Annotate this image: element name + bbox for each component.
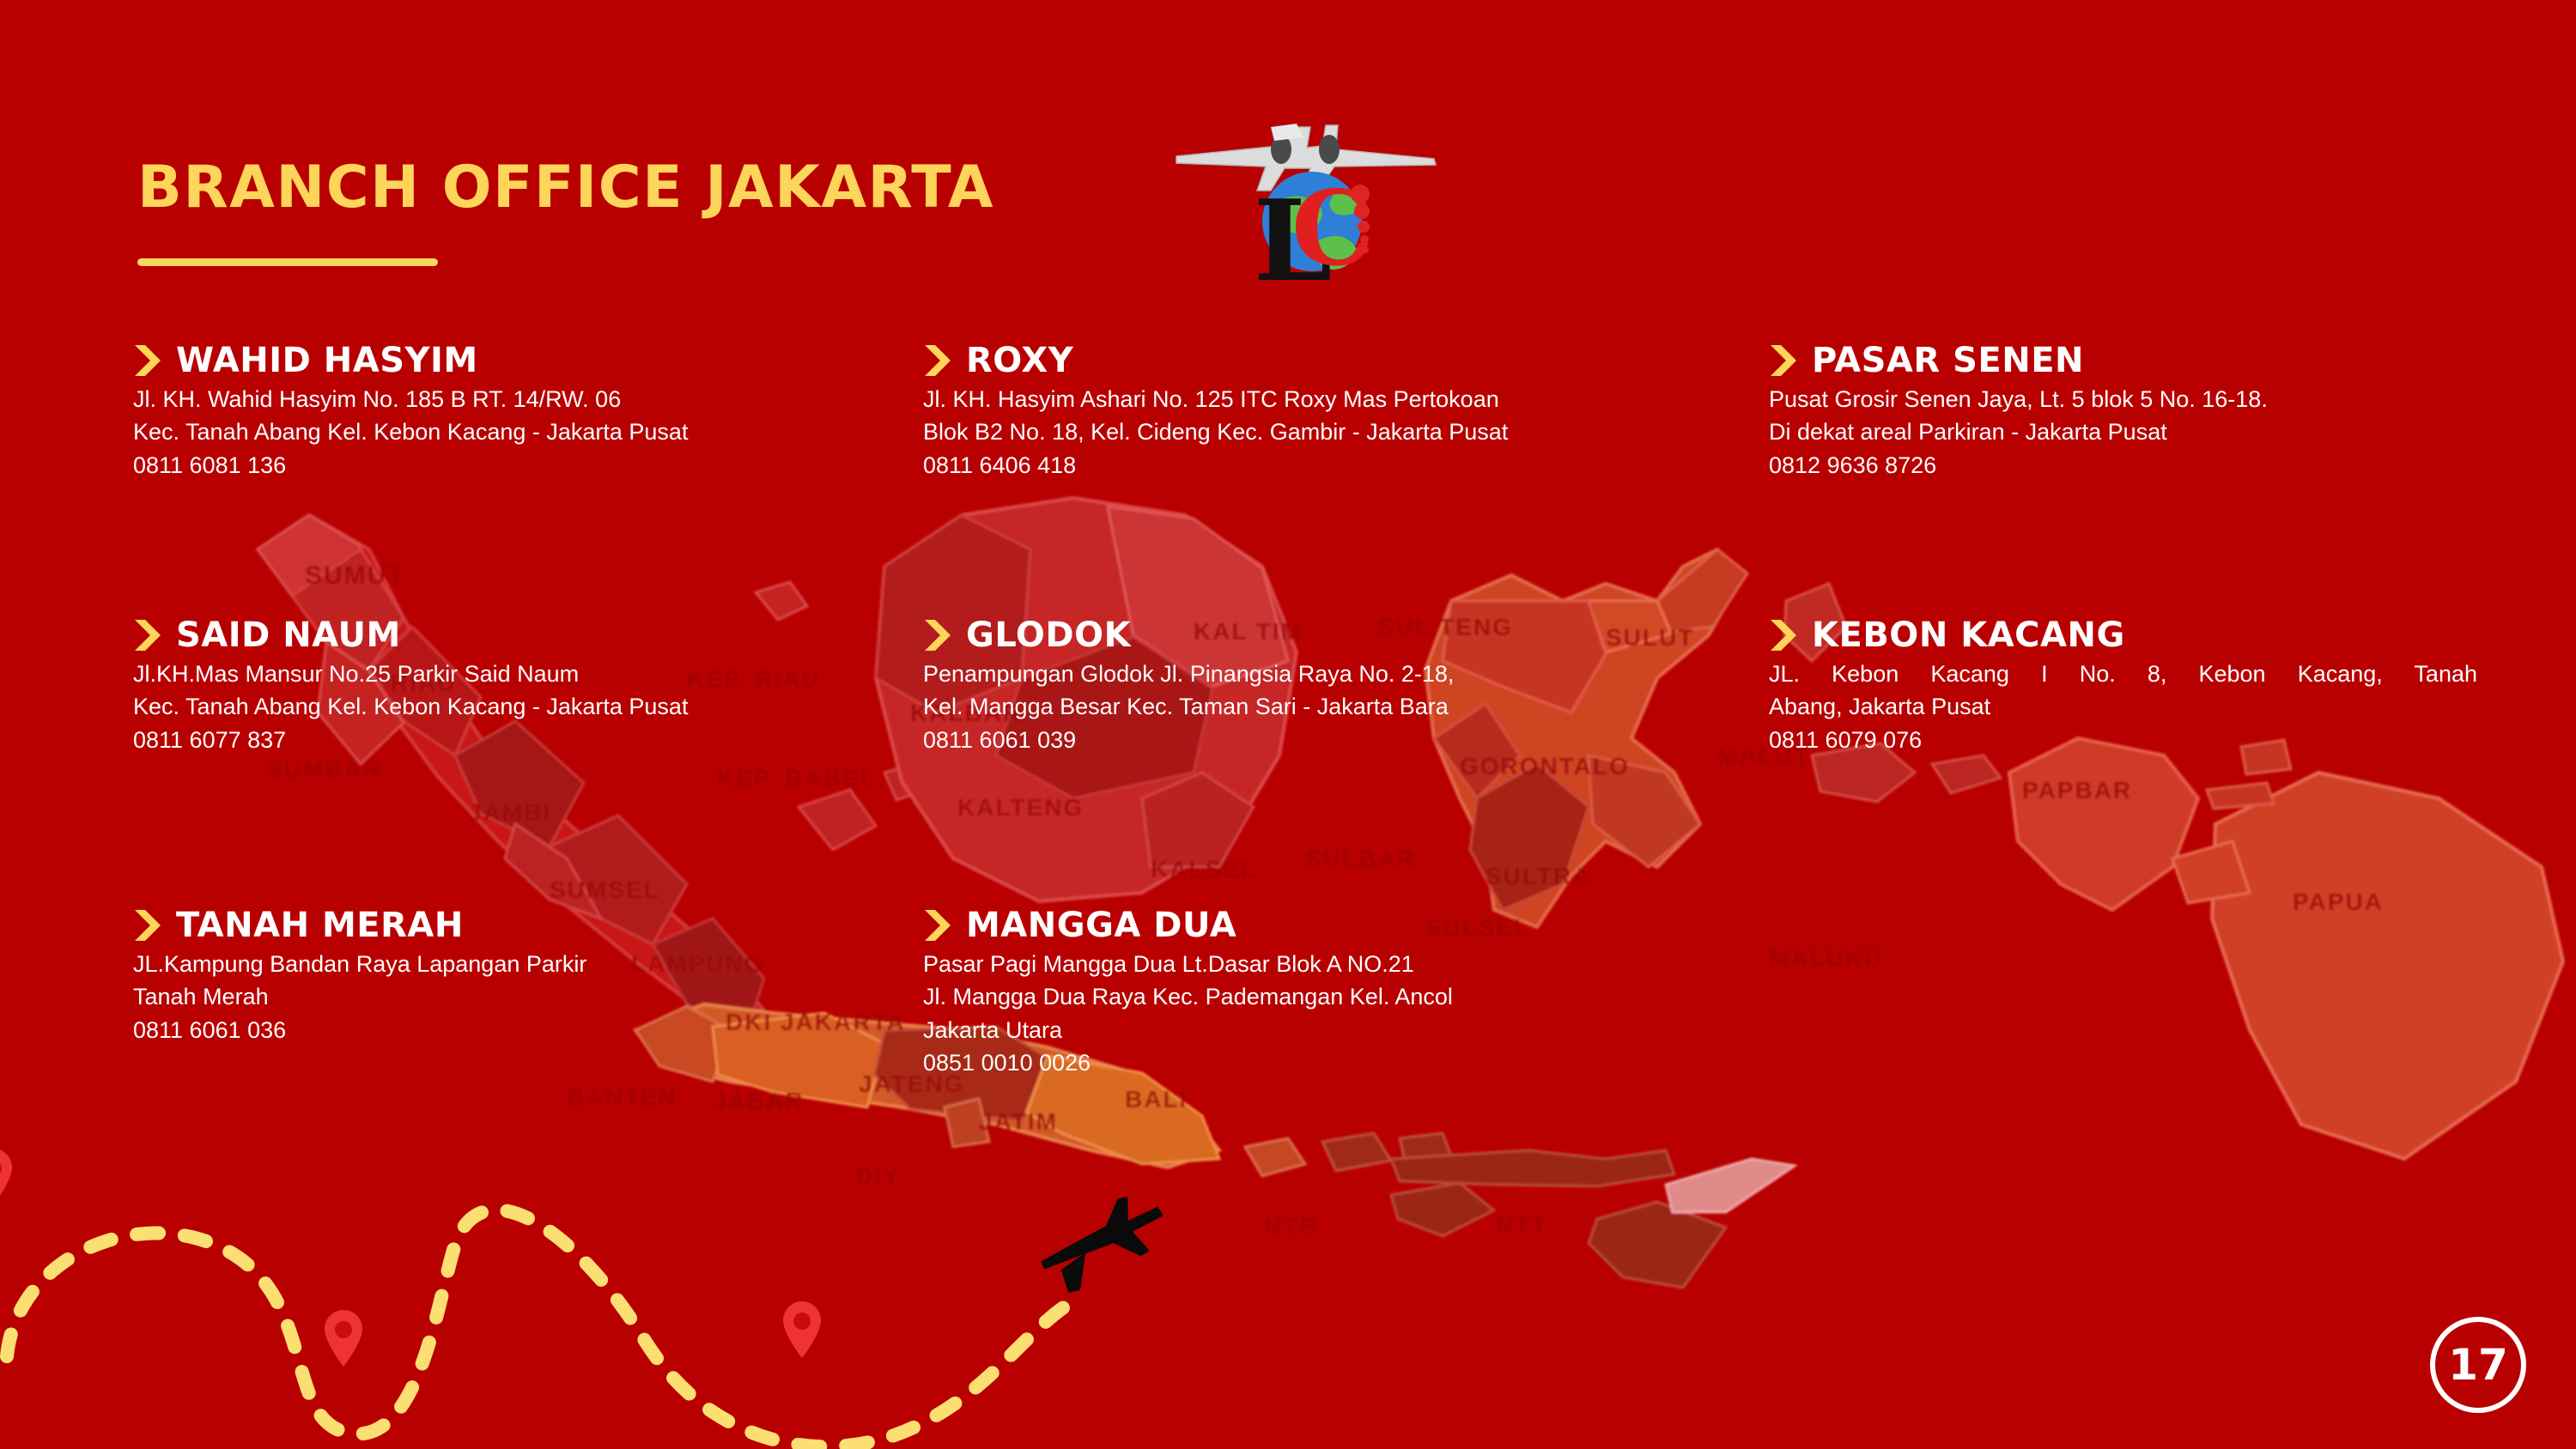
branch-card-tanah-merah: TANAH MERAH JL.Kampung Bandan Raya Lapan… (133, 908, 923, 1079)
branch-address: Penampungan Glodok Jl. Pinangsia Raya No… (923, 658, 1743, 756)
chevron-right-icon (133, 343, 164, 378)
chevron-right-icon (1769, 618, 1800, 652)
branch-phone: 0812 9636 8726 (1769, 449, 2477, 482)
branch-address: Pasar Pagi Mangga Dua Lt.Dasar Blok A NO… (923, 948, 1743, 1079)
slide-header: BRANCH OFFICE JAKARTA (137, 159, 994, 266)
branch-phone: 0811 6061 039 (923, 724, 1743, 756)
branch-address: JL.Kampung Bandan Raya Lapangan Parkir T… (133, 948, 897, 1046)
branch-row: TANAH MERAH JL.Kampung Bandan Raya Lapan… (133, 908, 2503, 1079)
branch-name: SAID NAUM (176, 618, 401, 652)
branch-card-roxy: ROXY Jl. KH. Hasyim Ashari No. 125 ITC R… (923, 343, 1769, 618)
chevron-right-icon (923, 618, 954, 652)
airplane-silhouette-icon (1030, 1185, 1176, 1300)
branch-address: Pusat Grosir Senen Jaya, Lt. 5 blok 5 No… (1769, 383, 2477, 482)
title-underline (137, 258, 438, 266)
airplane-globe-logo: L C (1151, 112, 1460, 305)
map-pin-icon (325, 1310, 362, 1367)
branch-row: WAHID HASYIM Jl. KH. Wahid Hasyim No. 18… (133, 343, 2503, 618)
chevron-right-icon (133, 618, 164, 652)
branch-phone: 0811 6079 076 (1769, 724, 2477, 756)
branch-phone: 0811 6081 136 (133, 449, 897, 482)
branch-card-glodok: GLODOK Penampungan Glodok Jl. Pinangsia … (923, 618, 1769, 908)
branch-name: MANGGA DUA (966, 908, 1236, 943)
branch-card-kebon-kacang: KEBON KACANG JL. Kebon Kacang I No. 8, K… (1769, 618, 2503, 908)
branch-card-empty (1769, 908, 2503, 1079)
branch-address: Jl.KH.Mas Mansur No.25 Parkir Said Naum … (133, 658, 897, 756)
branch-phone: 0811 6406 418 (923, 449, 1743, 482)
branch-phone: 0811 6077 837 (133, 724, 897, 756)
branch-phone: 0811 6061 036 (133, 1014, 897, 1046)
branch-address: JL. Kebon Kacang I No. 8, Kebon Kacang, … (1769, 658, 2477, 756)
chevron-right-icon (133, 908, 164, 943)
branch-card-pasar-senen: PASAR SENEN Pusat Grosir Senen Jaya, Lt.… (1769, 343, 2503, 618)
branch-phone: 0851 0010 0026 (923, 1046, 1743, 1079)
branch-name: ROXY (966, 343, 1073, 378)
branch-card-said-naum: SAID NAUM Jl.KH.Mas Mansur No.25 Parkir … (133, 618, 923, 908)
branch-row: SAID NAUM Jl.KH.Mas Mansur No.25 Parkir … (133, 618, 2503, 908)
page-title: BRANCH OFFICE JAKARTA (137, 159, 994, 217)
map-pin-icon (0, 1149, 12, 1205)
chevron-right-icon (1769, 343, 1800, 378)
branch-name: KEBON KACANG (1812, 618, 2125, 652)
branch-address: Jl. KH. Wahid Hasyim No. 185 B RT. 14/RW… (133, 383, 897, 482)
page-number-badge: 17 (2430, 1317, 2526, 1413)
branch-card-wahid-hasyim: WAHID HASYIM Jl. KH. Wahid Hasyim No. 18… (133, 343, 923, 618)
branch-card-mangga-dua: MANGGA DUA Pasar Pagi Mangga Dua Lt.Dasa… (923, 908, 1769, 1079)
branch-name: PASAR SENEN (1812, 343, 2084, 378)
branch-name: TANAH MERAH (176, 908, 464, 943)
page-number: 17 (2448, 1343, 2508, 1386)
flight-path-decoration (0, 1142, 1176, 1449)
chevron-right-icon (923, 343, 954, 378)
map-pin-icon (783, 1301, 821, 1358)
chevron-right-icon (923, 908, 954, 943)
dashed-route-path (7, 1210, 1082, 1446)
branch-name: GLODOK (966, 618, 1131, 652)
branch-name: WAHID HASYIM (176, 343, 478, 378)
branch-address: Jl. KH. Hasyim Ashari No. 125 ITC Roxy M… (923, 383, 1743, 482)
branch-grid: WAHID HASYIM Jl. KH. Wahid Hasyim No. 18… (133, 343, 2503, 1079)
